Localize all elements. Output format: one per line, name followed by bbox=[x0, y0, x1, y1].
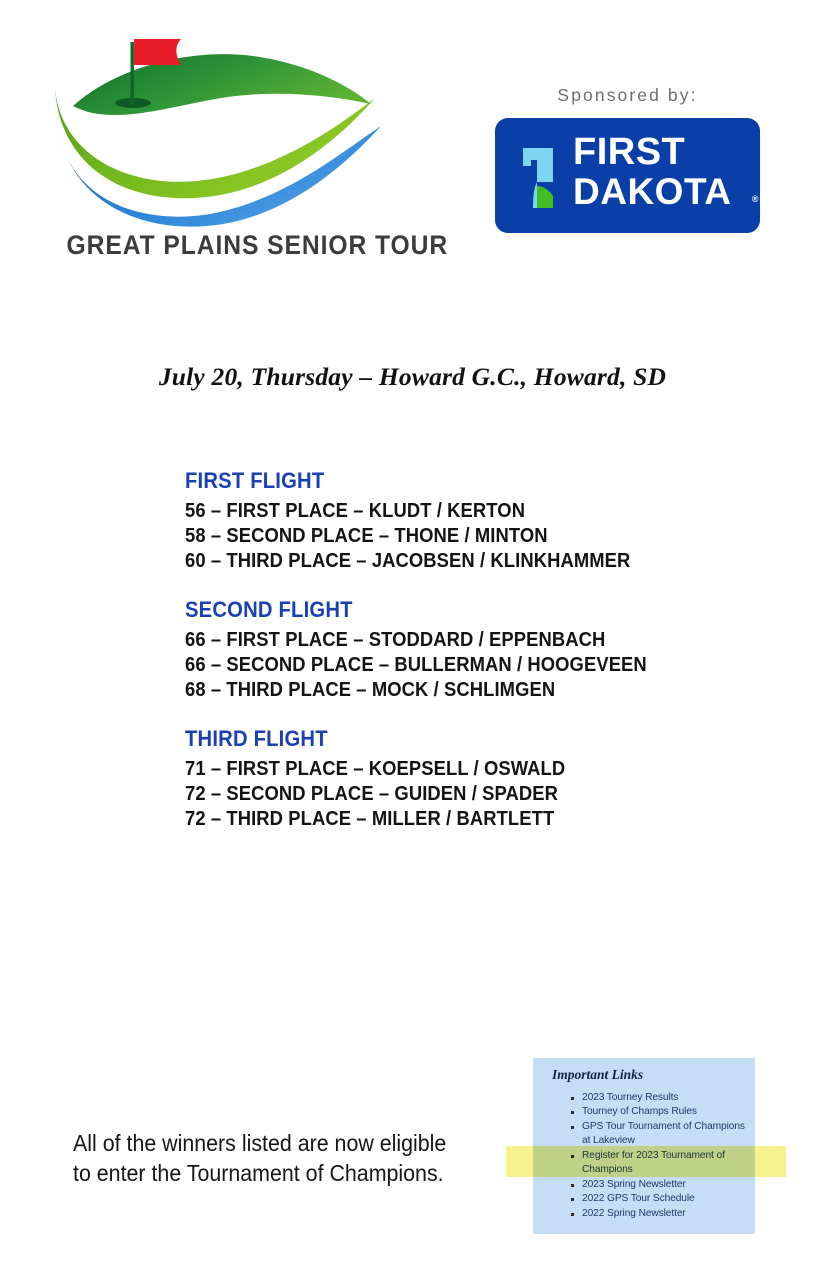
first-dakota-mark-icon bbox=[517, 136, 565, 216]
flight-entry: 72 – THIRD PLACE – MILLER / BARTLETT bbox=[185, 807, 700, 832]
flight-entry: 71 – FIRST PLACE – KOEPSELL / OSWALD bbox=[185, 757, 700, 782]
sponsor-name-line2-text: DAKOTA bbox=[573, 171, 732, 212]
flight-heading: FIRST FLIGHT bbox=[185, 468, 700, 494]
flight-block: FIRST FLIGHT 56 – FIRST PLACE – KLUDT / … bbox=[185, 468, 745, 574]
registered-trademark-icon: ® bbox=[752, 195, 759, 204]
flag-pole bbox=[131, 42, 134, 104]
list-item[interactable]: Tourney of Champs Rules bbox=[569, 1105, 755, 1119]
page-header: GREAT PLAINS SENIOR TOUR Sponsored by: F… bbox=[0, 0, 825, 290]
important-links-list: 2023 Tourney Results Tourney of Champs R… bbox=[569, 1091, 755, 1221]
hill-green-dark bbox=[73, 54, 371, 115]
eligibility-note-line1: All of the winners listed are now eligib… bbox=[73, 1128, 464, 1158]
link-label[interactable]: 2023 Tourney Results bbox=[582, 1092, 678, 1103]
list-item[interactable]: 2022 GPS Tour Schedule bbox=[569, 1192, 755, 1206]
flight-block: THIRD FLIGHT 71 – FIRST PLACE – KOEPSELL… bbox=[185, 726, 745, 832]
event-title: July 20, Thursday – Howard G.C., Howard,… bbox=[0, 362, 825, 392]
list-item[interactable]: GPS Tour Tournament of Champions at Lake… bbox=[569, 1120, 755, 1149]
link-label[interactable]: Tourney of Champs Rules bbox=[582, 1106, 697, 1117]
flight-heading: THIRD FLIGHT bbox=[185, 726, 700, 752]
sponsored-by-label: Sponsored by: bbox=[480, 85, 775, 106]
eligibility-note: All of the winners listed are now eligib… bbox=[73, 1128, 464, 1189]
link-label[interactable]: Register for 2023 Tournament of Champion… bbox=[582, 1150, 725, 1175]
link-label[interactable]: GPS Tour Tournament of Champions at Lake… bbox=[582, 1121, 745, 1146]
flight-entry: 66 – SECOND PLACE – BULLERMAN / HOOGEVEE… bbox=[185, 653, 700, 678]
results-list: FIRST FLIGHT 56 – FIRST PLACE – KLUDT / … bbox=[185, 468, 745, 832]
important-links-title: Important Links bbox=[552, 1067, 643, 1083]
flight-entry: 58 – SECOND PLACE – THONE / MINTON bbox=[185, 524, 700, 549]
golf-course-swoosh-icon bbox=[55, 30, 385, 230]
important-links-panel: Important Links 2023 Tourney Results Tou… bbox=[533, 1058, 755, 1234]
flight-entry: 60 – THIRD PLACE – JACOBSEN / KLINKHAMME… bbox=[185, 549, 700, 574]
sponsor-name-line2: DAKOTA ® bbox=[573, 174, 753, 209]
flight-heading: SECOND FLIGHT bbox=[185, 597, 700, 623]
flight-entry: 56 – FIRST PLACE – KLUDT / KERTON bbox=[185, 499, 700, 524]
list-item[interactable]: 2023 Spring Newsletter bbox=[569, 1178, 755, 1192]
flight-block: SECOND FLIGHT 66 – FIRST PLACE – STODDAR… bbox=[185, 597, 745, 703]
flag-icon bbox=[134, 39, 181, 65]
link-label[interactable]: 2022 GPS Tour Schedule bbox=[582, 1193, 695, 1204]
flight-entry: 72 – SECOND PLACE – GUIDEN / SPADER bbox=[185, 782, 700, 807]
sponsor-block: Sponsored by: FIRST DAKOTA ® bbox=[480, 85, 775, 233]
first-dakota-logo: FIRST DAKOTA ® bbox=[495, 118, 760, 233]
list-item[interactable]: 2023 Tourney Results bbox=[569, 1091, 755, 1105]
flight-entry: 66 – FIRST PLACE – STODDARD / EPPENBACH bbox=[185, 628, 700, 653]
list-item[interactable]: 2022 Spring Newsletter bbox=[569, 1207, 755, 1221]
link-label[interactable]: 2022 Spring Newsletter bbox=[582, 1208, 686, 1219]
tour-wordmark: GREAT PLAINS SENIOR TOUR bbox=[67, 230, 374, 261]
link-label[interactable]: 2023 Spring Newsletter bbox=[582, 1179, 686, 1190]
eligibility-note-line2: to enter the Tournament of Champions. bbox=[73, 1158, 464, 1188]
sponsor-name-line1: FIRST bbox=[573, 134, 753, 170]
flight-entry: 68 – THIRD PLACE – MOCK / SCHLIMGEN bbox=[185, 678, 700, 703]
first-dakota-wordmark: FIRST DAKOTA ® bbox=[573, 134, 753, 209]
tour-logo: GREAT PLAINS SENIOR TOUR bbox=[55, 30, 385, 275]
list-item[interactable]: Register for 2023 Tournament of Champion… bbox=[569, 1149, 755, 1178]
